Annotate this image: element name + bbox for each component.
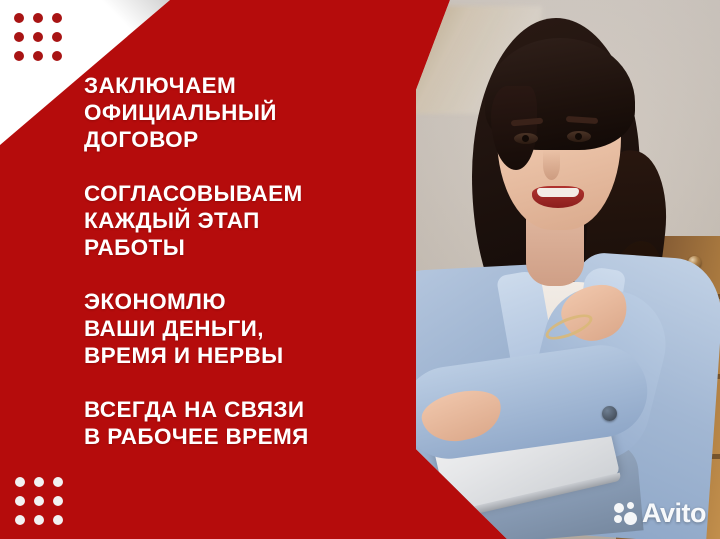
claim-line: ВСЕГДА НА СВЯЗИ <box>84 396 374 423</box>
claim-line: В РАБОЧЕЕ ВРЕМЯ <box>84 423 374 450</box>
claim-line: ВРЕМЯ И НЕРВЫ <box>84 342 374 369</box>
avito-dot <box>614 515 622 523</box>
claim-line: ЭКОНОМЛЮ <box>84 288 374 315</box>
photo-background <box>386 0 720 539</box>
dot <box>14 32 24 42</box>
dot-grid-icon-top <box>14 13 62 61</box>
dot <box>52 13 62 23</box>
avito-brand-text: Avito <box>642 500 706 527</box>
advertisement-banner: ЗАКЛЮЧАЕМ ОФИЦИАЛЬНЫЙ ДОГОВОР СОГЛАСОВЫВ… <box>0 0 720 539</box>
dot <box>52 51 62 61</box>
claim-line: КАЖДЫЙ ЭТАП <box>84 207 374 234</box>
dot <box>53 496 63 506</box>
avito-dot <box>614 503 624 513</box>
portrait-photo <box>386 0 720 539</box>
nose <box>543 150 560 180</box>
hair-front <box>485 38 635 150</box>
dot <box>34 496 44 506</box>
avito-watermark: Avito <box>614 500 706 527</box>
dot <box>15 496 25 506</box>
dot-grid-icon-bottom <box>15 477 63 525</box>
avito-dots-icon <box>614 502 637 525</box>
teeth <box>537 188 579 197</box>
claim-contract: ЗАКЛЮЧАЕМ ОФИЦИАЛЬНЫЙ ДОГОВОР <box>84 72 374 153</box>
claim-availability: ВСЕГДА НА СВЯЗИ В РАБОЧЕЕ ВРЕМЯ <box>84 396 374 450</box>
eye-left <box>514 133 538 144</box>
person-figure <box>386 0 720 539</box>
avito-dot <box>624 512 637 525</box>
claim-savings: ЭКОНОМЛЮ ВАШИ ДЕНЬГИ, ВРЕМЯ И НЕРВЫ <box>84 288 374 369</box>
dot <box>34 477 44 487</box>
jacket-button <box>396 497 411 512</box>
claim-line: ДОГОВОР <box>84 126 374 153</box>
dot <box>33 32 43 42</box>
eye-right <box>567 131 591 142</box>
claims-list: ЗАКЛЮЧАЕМ ОФИЦИАЛЬНЫЙ ДОГОВОР СОГЛАСОВЫВ… <box>84 72 374 450</box>
dot <box>53 477 63 487</box>
dot <box>52 32 62 42</box>
dot <box>15 515 25 525</box>
dot <box>14 13 24 23</box>
dot <box>53 515 63 525</box>
avito-dot <box>627 502 634 509</box>
claim-line: РАБОТЫ <box>84 234 374 261</box>
jacket-button <box>402 460 417 475</box>
dot <box>33 13 43 23</box>
jacket-button <box>602 406 617 421</box>
dot <box>14 51 24 61</box>
dot <box>15 477 25 487</box>
dot <box>33 51 43 61</box>
claim-line: ЗАКЛЮЧАЕМ <box>84 72 374 99</box>
claim-line: ОФИЦИАЛЬНЫЙ <box>84 99 374 126</box>
claim-line: ВАШИ ДЕНЬГИ, <box>84 315 374 342</box>
claim-stages: СОГЛАСОВЫВАЕМ КАЖДЫЙ ЭТАП РАБОТЫ <box>84 180 374 261</box>
dot <box>34 515 44 525</box>
claim-line: СОГЛАСОВЫВАЕМ <box>84 180 374 207</box>
